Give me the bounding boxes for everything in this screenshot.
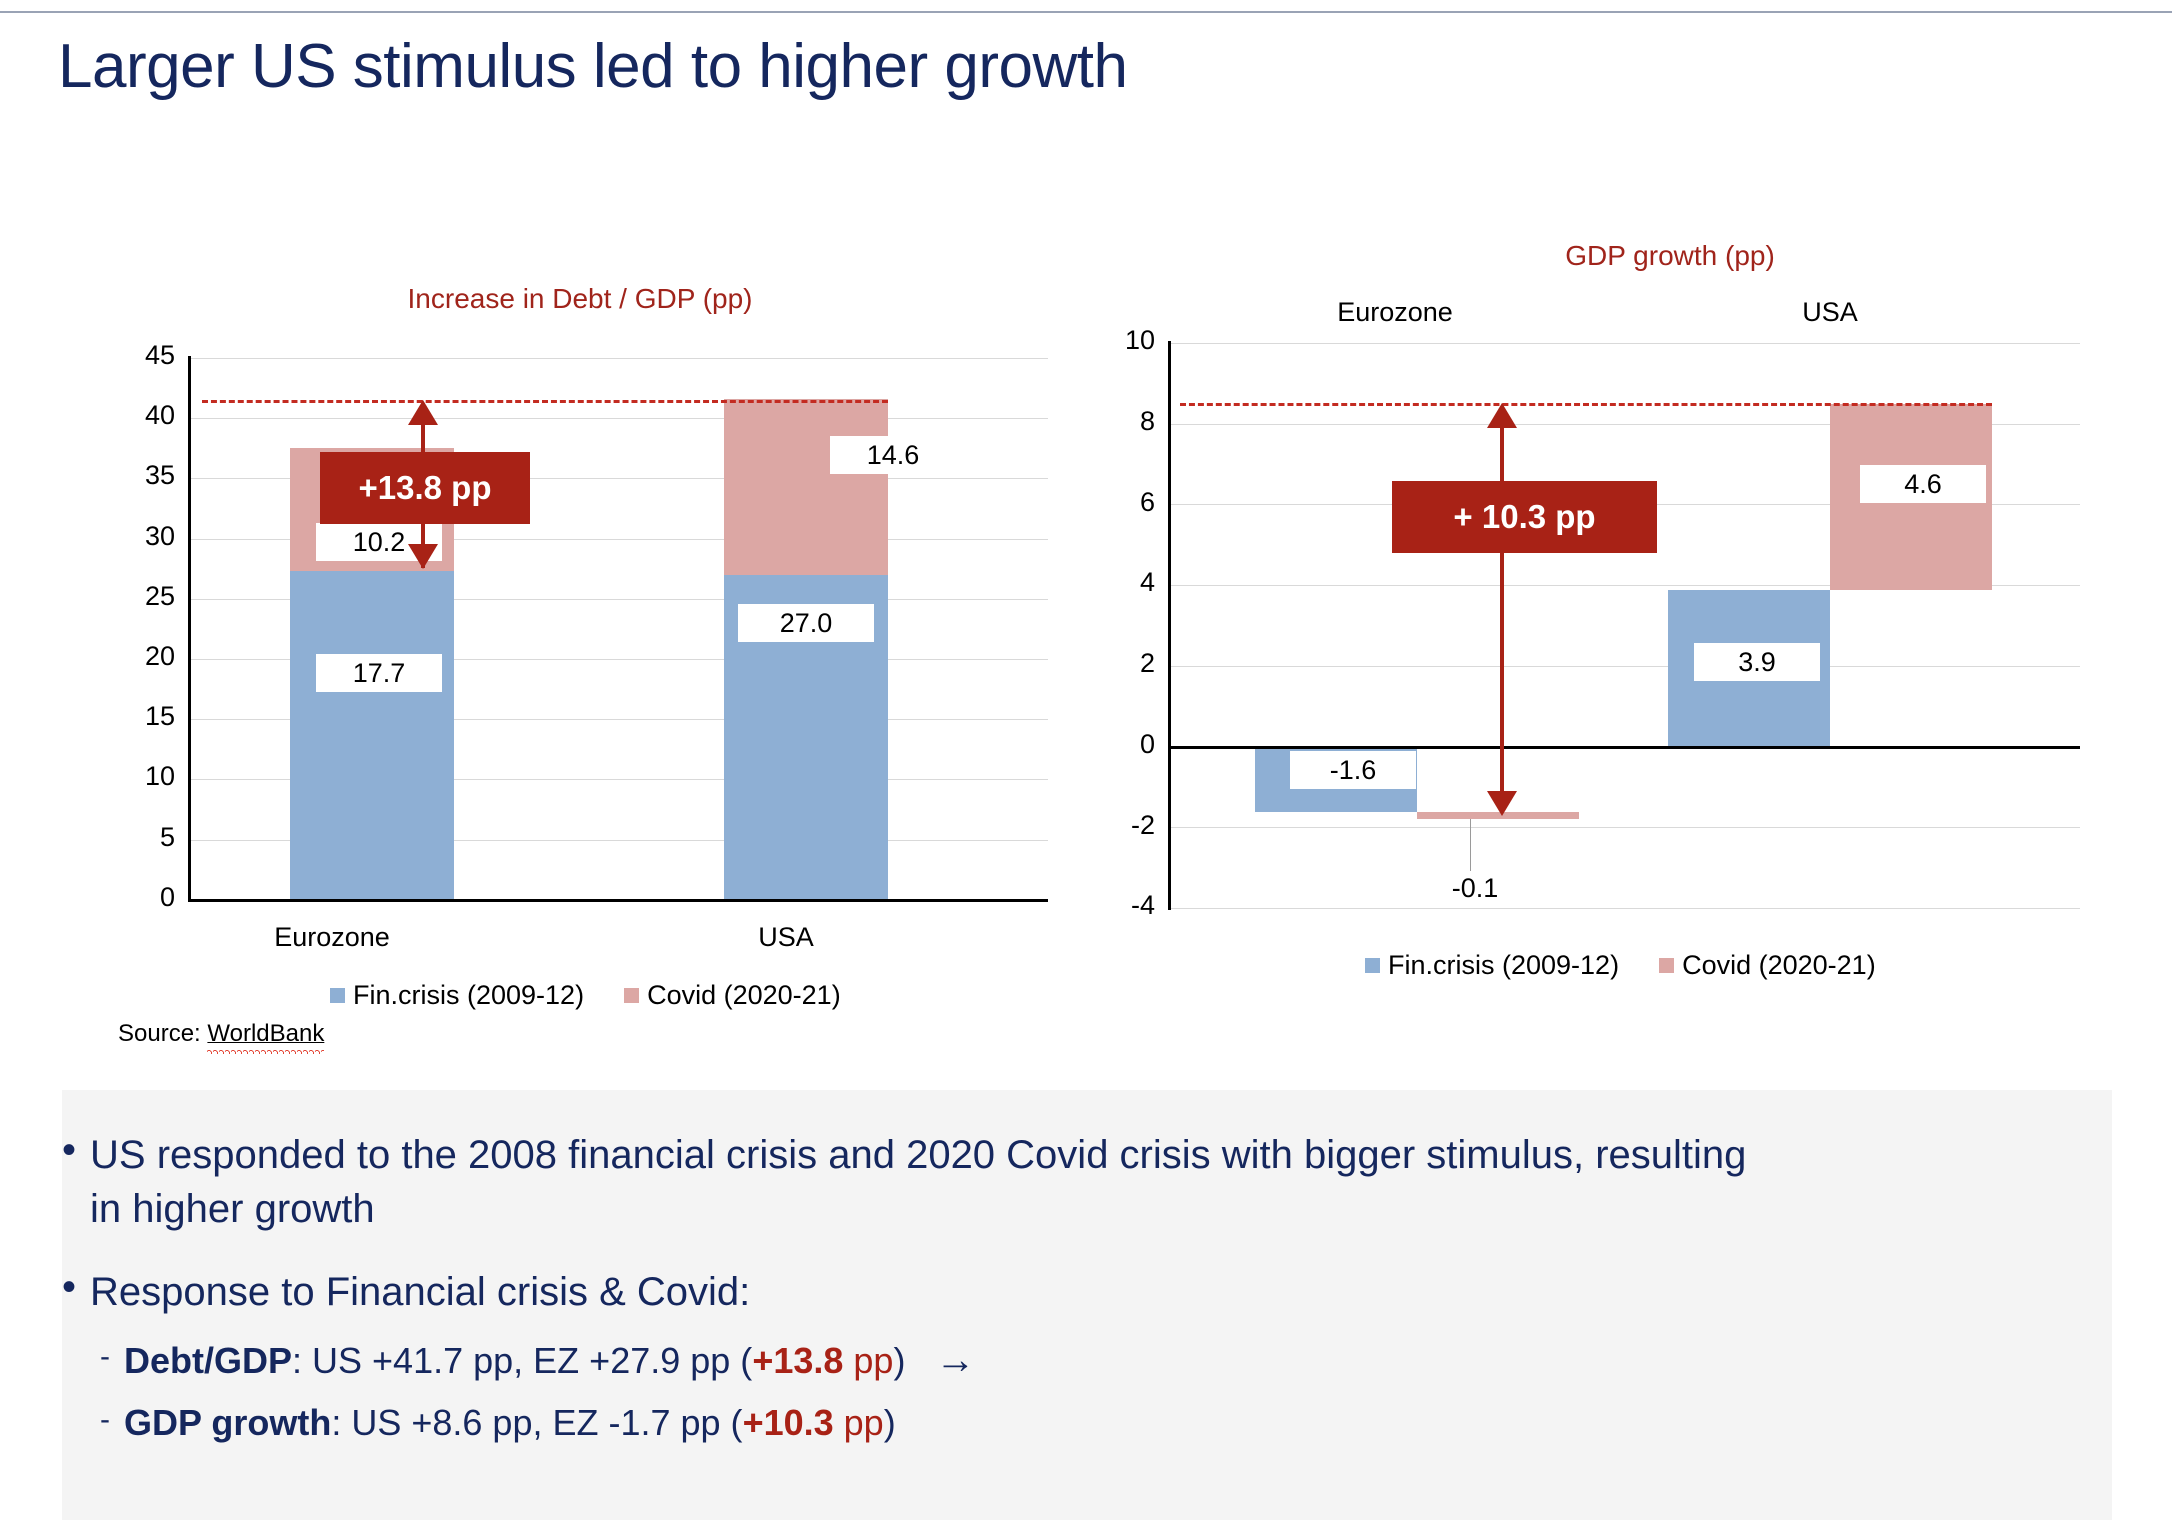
legend-entry-covid-growth[interactable]: Covid (2020-21)	[1659, 950, 1876, 981]
legend-debt-gdp: Fin.crisis (2009-12) Covid (2020-21)	[330, 980, 841, 1011]
category-label-usa-growth: USA	[1730, 297, 1930, 328]
bar-eurozone-fincrisis[interactable]	[290, 571, 454, 900]
data-label-usa-fincrisis: 27.0	[738, 604, 874, 642]
legend-swatch-pink-icon	[624, 988, 639, 1003]
callout-debt-gdp: +13.8 pp	[320, 452, 530, 524]
sub-bullet-2-highlight: +10.3	[743, 1402, 834, 1443]
ytick-45: 45	[80, 340, 175, 371]
legend-entry-fincrisis-growth[interactable]: Fin.crisis (2009-12)	[1365, 950, 1619, 981]
data-label-eurozone-fincrisis: 17.7	[316, 654, 442, 692]
ytick-0: 0	[1070, 729, 1155, 760]
ytick-25: 25	[80, 581, 175, 612]
category-label-eurozone-debt: Eurozone	[212, 922, 452, 953]
ytick-minus4: -4	[1070, 890, 1155, 921]
legend-label-fincrisis: Fin.crisis (2009-12)	[353, 980, 584, 1011]
ytick-20: 20	[80, 641, 175, 672]
x-axis-debt-gdp	[188, 899, 1048, 902]
sub-bullet-1-label: Debt/GDP	[124, 1340, 292, 1381]
legend-entry-covid[interactable]: Covid (2020-21)	[624, 980, 841, 1011]
sub-bullet-2: - GDP growth: US +8.6 pp, EZ -1.7 pp (+1…	[100, 1398, 2100, 1448]
sub-bullet-2-close: )	[884, 1402, 896, 1443]
ytick-2: 2	[1070, 648, 1155, 679]
sub-bullet-1-highlight-tail: pp	[843, 1340, 893, 1381]
source-note: Source: WorldBank	[118, 1020, 324, 1048]
sub-bullet-2-mid: : US +8.6 pp, EZ -1.7 pp (	[331, 1402, 742, 1443]
right-arrow-icon: →	[935, 1338, 975, 1382]
legend-gdp-growth: Fin.crisis (2009-12) Covid (2020-21)	[1365, 950, 1876, 981]
ytick-35: 35	[80, 460, 175, 491]
sub-bullet-1-mid: : US +41.7 pp, EZ +27.9 pp (	[292, 1340, 752, 1381]
zero-line-growth	[1170, 746, 2080, 749]
gridline-minus2	[1170, 827, 2080, 828]
bullet-1-line-2: in higher growth	[90, 1187, 375, 1231]
gridline-45	[190, 358, 1048, 359]
y-axis-debt-gdp	[188, 356, 191, 902]
bullet-glyph-1: •	[62, 1128, 76, 1236]
ytick-minus2: -2	[1070, 810, 1155, 841]
ytick-10: 10	[80, 761, 175, 792]
sub-bullet-2-text: GDP growth: US +8.6 pp, EZ -1.7 pp (+10.…	[124, 1398, 896, 1448]
data-label-usa-fincrisis-growth: 3.9	[1694, 643, 1820, 681]
ytick-30: 30	[80, 521, 175, 552]
gridline-2	[1170, 666, 2080, 667]
chart-debt-gdp: Increase in Debt / GDP (pp) 17.7 10.2 27…	[0, 0, 1060, 1060]
ytick-4: 4	[1070, 567, 1155, 598]
sub-bullet-glyph-2: -	[100, 1398, 110, 1448]
sub-bullet-1: - Debt/GDP: US +41.7 pp, EZ +27.9 pp (+1…	[100, 1335, 2100, 1386]
callout-gdp-growth: + 10.3 pp	[1392, 481, 1657, 553]
chart-gdp-growth: GDP growth (pp) Eurozone USA + 10.3 pp 3…	[1080, 0, 2172, 1020]
chart-title-debt-gdp: Increase in Debt / GDP (pp)	[180, 283, 980, 315]
bullet-1-line-1: US responded to the 2008 financial crisi…	[90, 1133, 1746, 1177]
ytick-40: 40	[80, 400, 175, 431]
sub-bullet-glyph-1: -	[100, 1335, 110, 1386]
legend-swatch-pink-icon	[1659, 958, 1674, 973]
category-label-usa-debt: USA	[686, 922, 886, 953]
annotation-arrow-stem-growth	[1500, 423, 1504, 793]
source-prefix: Source:	[118, 1020, 207, 1047]
sub-bullet-1-close: )	[893, 1340, 905, 1381]
category-label-eurozone-growth: Eurozone	[1270, 297, 1520, 328]
legend-label-covid: Covid (2020-21)	[647, 980, 841, 1011]
legend-swatch-blue-icon	[330, 988, 345, 1003]
ytick-10: 10	[1070, 325, 1155, 356]
y-axis-gdp-growth	[1168, 341, 1171, 910]
chart-title-gdp-growth: GDP growth (pp)	[1420, 240, 1920, 272]
legend-entry-fincrisis[interactable]: Fin.crisis (2009-12)	[330, 980, 584, 1011]
bar-usa-covid[interactable]	[724, 399, 888, 575]
ytick-0: 0	[80, 882, 175, 913]
ytick-15: 15	[80, 701, 175, 732]
plot-area-gdp-growth: + 10.3 pp 3.9 4.6 -1.6 -0.1	[1170, 343, 2080, 908]
legend-label-covid-growth: Covid (2020-21)	[1682, 950, 1876, 981]
bullet-2: • Response to Financial crisis & Covid:	[62, 1265, 2102, 1319]
legend-swatch-blue-icon	[1365, 958, 1380, 973]
bullet-1: • US responded to the 2008 financial cri…	[62, 1128, 2102, 1236]
data-label-usa-covid: 14.6	[830, 436, 956, 474]
data-label-eurozone-covid-growth: -0.1	[1400, 873, 1550, 904]
gridline-40	[190, 418, 1048, 419]
gridline-10	[1170, 343, 2080, 344]
data-label-eurozone-fincrisis-growth: -1.6	[1290, 751, 1416, 789]
sub-bullet-1-highlight: +13.8	[752, 1340, 843, 1381]
plot-area-debt-gdp: 17.7 10.2 27.0 14.6 +13.8 pp	[190, 358, 1048, 900]
data-label-usa-covid-growth: 4.6	[1860, 465, 1986, 503]
sub-bullet-2-highlight-tail: pp	[834, 1402, 884, 1443]
ytick-5: 5	[80, 822, 175, 853]
reference-line-debt	[202, 400, 888, 403]
reference-line-growth	[1180, 403, 1992, 406]
bullet-2-text: Response to Financial crisis & Covid:	[90, 1265, 750, 1319]
source-term: WorldBank	[207, 1020, 324, 1050]
bullet-glyph-2: •	[62, 1265, 76, 1319]
annotation-arrow-down-growth	[1487, 791, 1517, 816]
ytick-8: 8	[1070, 406, 1155, 437]
gridline-minus4	[1170, 908, 2080, 909]
ytick-6: 6	[1070, 487, 1155, 518]
sub-bullet-1-text: Debt/GDP: US +41.7 pp, EZ +27.9 pp (+13.…	[124, 1335, 975, 1386]
legend-label-fincrisis-growth: Fin.crisis (2009-12)	[1388, 950, 1619, 981]
leader-line-minus01	[1470, 819, 1471, 871]
annotation-arrow-down-debt	[408, 544, 438, 569]
sub-bullet-2-label: GDP growth	[124, 1402, 331, 1443]
bullet-1-text: US responded to the 2008 financial crisi…	[90, 1128, 1746, 1236]
